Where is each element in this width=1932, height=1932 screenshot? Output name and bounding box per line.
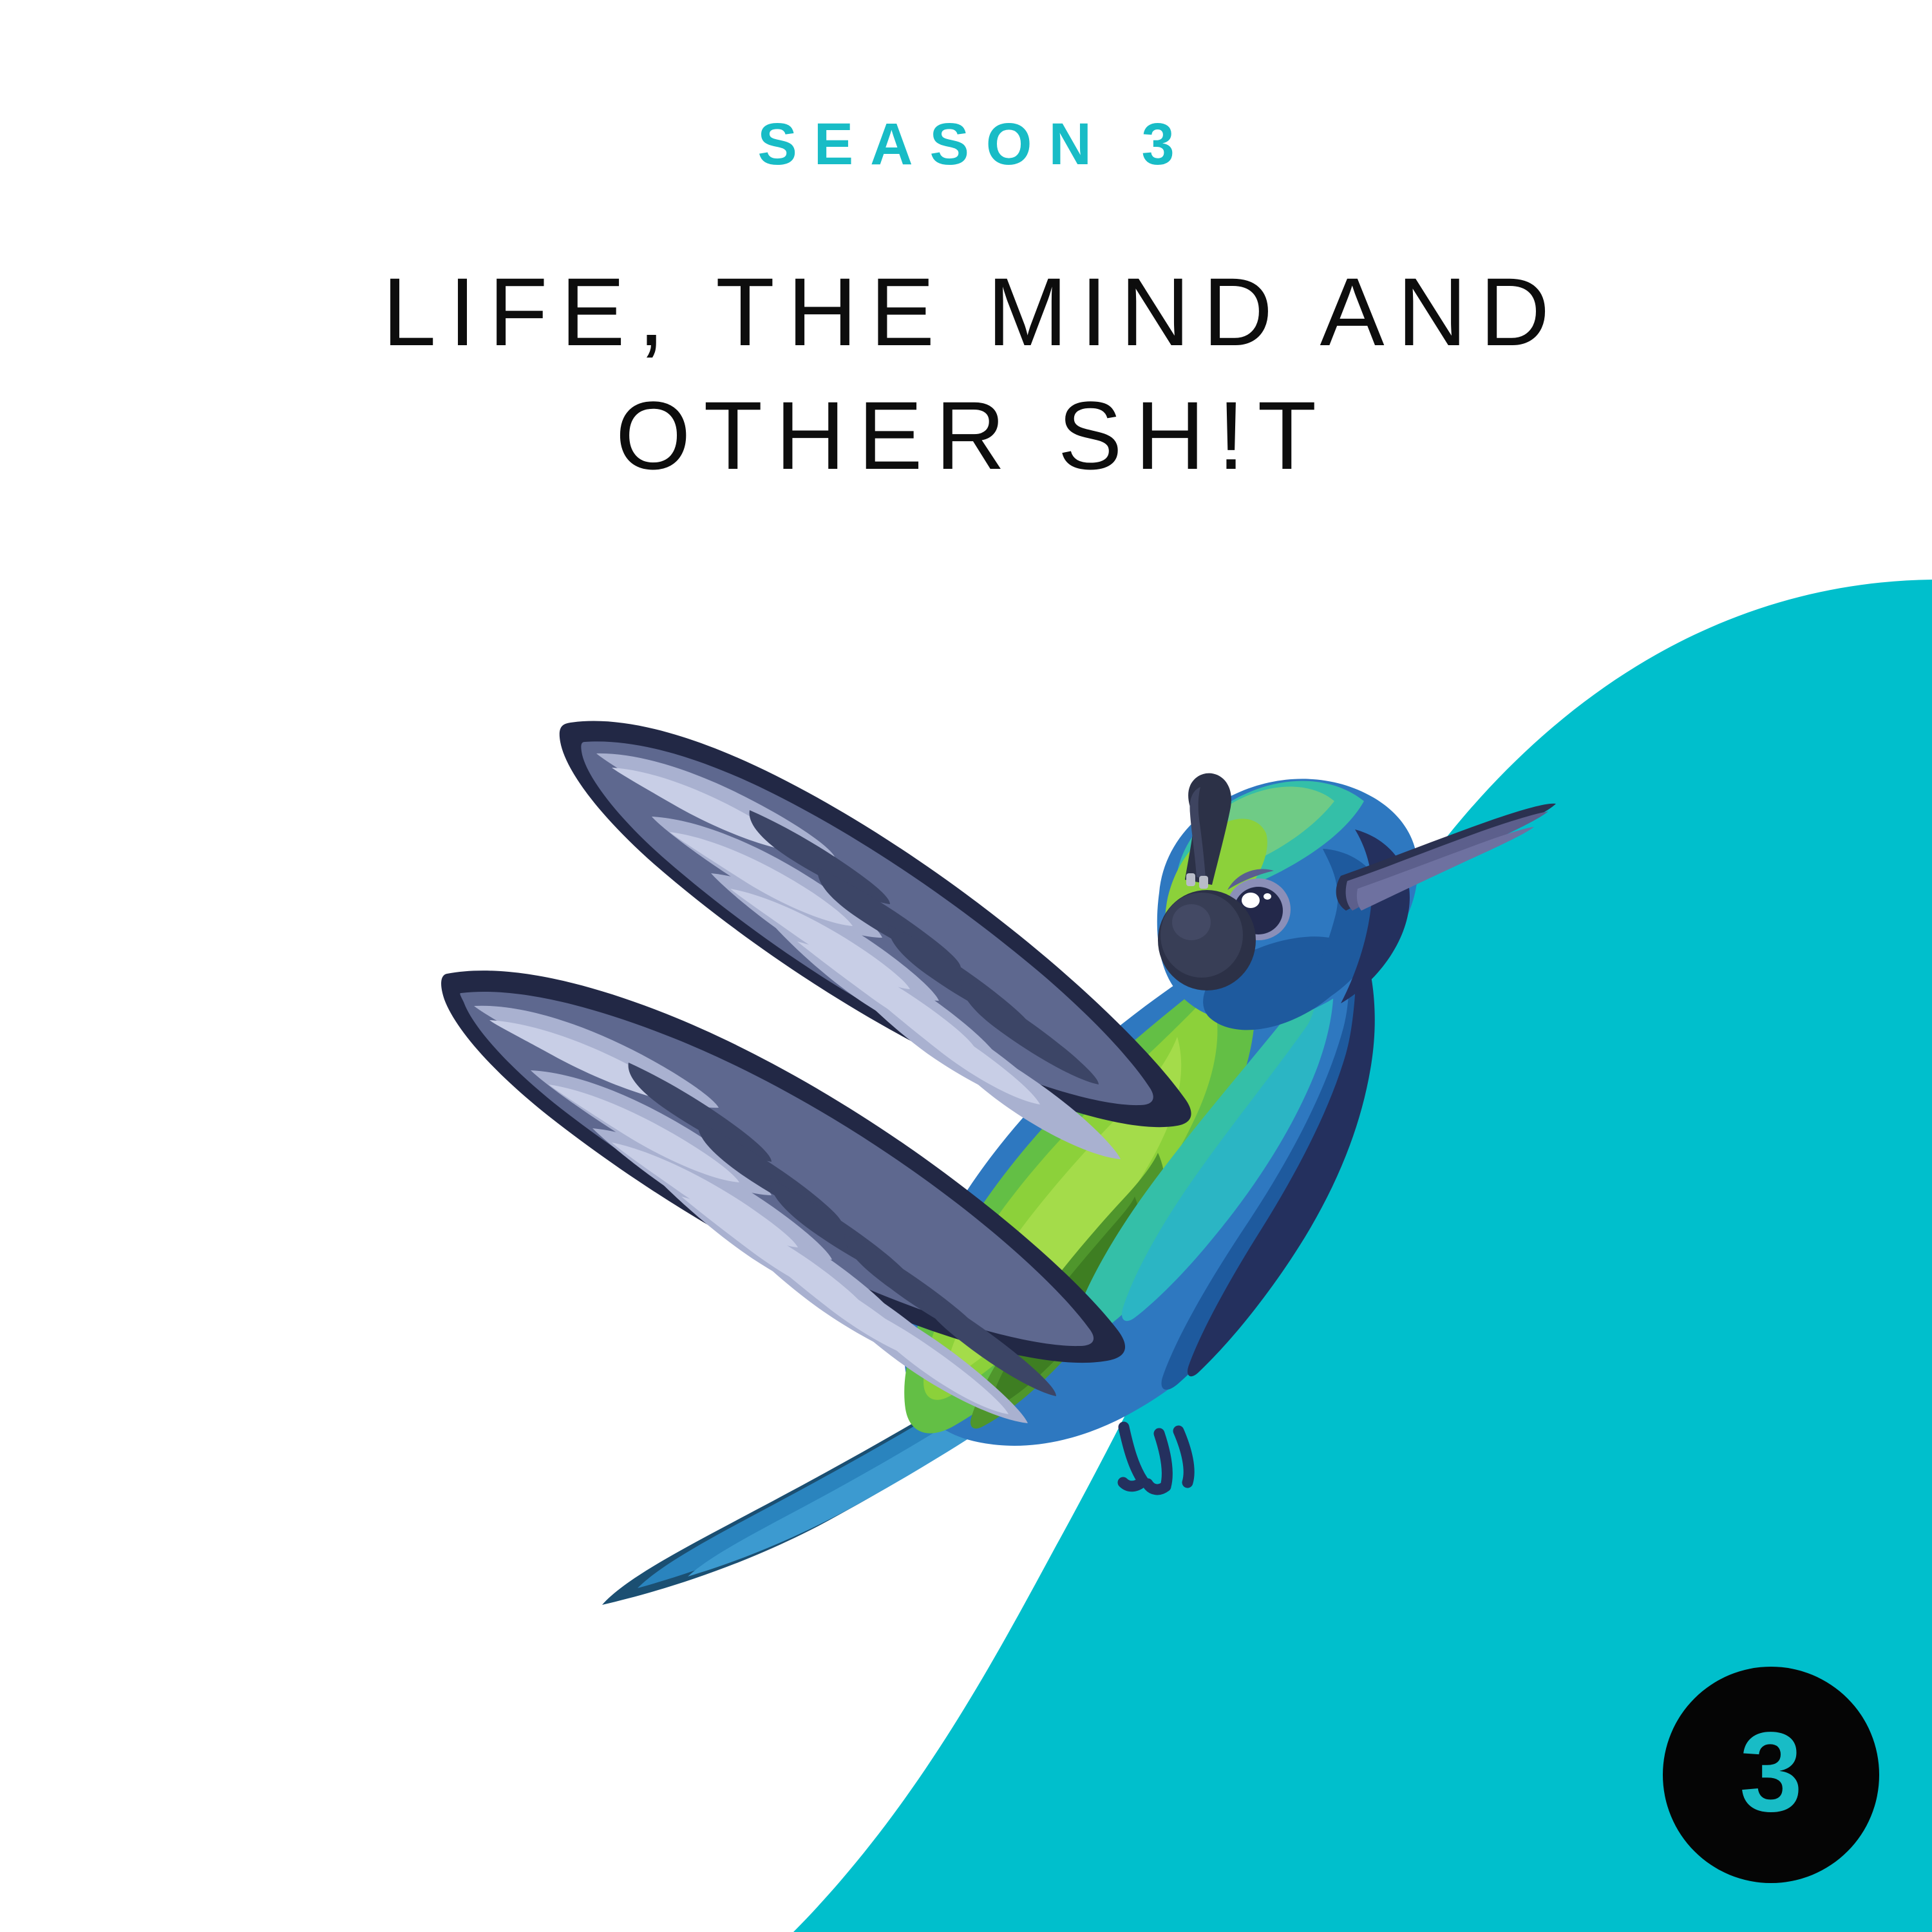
bird-feet xyxy=(1123,1427,1189,1490)
episode-number: 3 xyxy=(1739,1716,1803,1829)
hummingbird-illustration xyxy=(0,0,1932,1932)
episode-number-badge[interactable]: 3 xyxy=(1663,1667,1879,1883)
podcast-cover-canvas: SEASON 3 LIFE, THE MIND AND OTHER SH!T xyxy=(0,0,1932,1932)
